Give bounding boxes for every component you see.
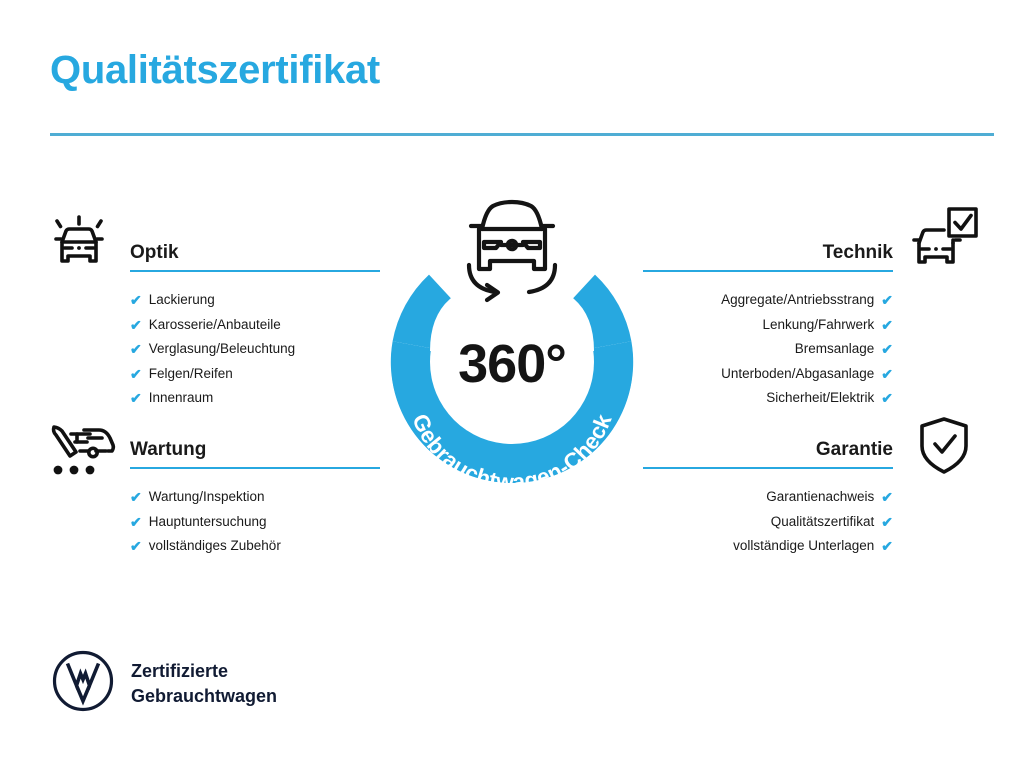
section-garantie-title: Garantie xyxy=(816,439,893,461)
section-garantie-divider xyxy=(643,467,893,469)
list-item-label: Bremsanlage xyxy=(795,337,875,362)
list-item-label: Sicherheit/Elektrik xyxy=(766,386,874,411)
check-icon: ✔ xyxy=(881,515,893,529)
section-technik-title: Technik xyxy=(823,242,893,264)
list-item: Unterboden/Abgasanlage ✔ xyxy=(643,362,893,387)
list-item: Bremsanlage ✔ xyxy=(643,337,893,362)
section-optik-divider xyxy=(130,270,380,272)
section-garantie-list: Garantienachweis ✔ Qualitätszertifikat ✔… xyxy=(643,485,893,559)
list-item: Lenkung/Fahrwerk ✔ xyxy=(643,313,893,338)
list-item-label: Innenraum xyxy=(149,386,214,411)
check-icon: ✔ xyxy=(130,318,142,332)
list-item: Sicherheit/Elektrik ✔ xyxy=(643,386,893,411)
header-divider xyxy=(50,133,994,136)
list-item-label: Unterboden/Abgasanlage xyxy=(721,362,874,387)
list-item: ✔ Felgen/Reifen xyxy=(130,362,380,387)
section-wartung: Wartung ✔ Wartung/Inspektion ✔ Hauptunte… xyxy=(130,429,380,559)
certificate-page: Qualitätszertifikat Optik xyxy=(0,0,1024,768)
check-icon: ✔ xyxy=(881,342,893,356)
list-item-label: Verglasung/Beleuchtung xyxy=(149,337,295,362)
list-item: Garantienachweis ✔ xyxy=(643,485,893,510)
list-item-label: vollständiges Zubehör xyxy=(149,534,281,559)
section-optik-header: Optik xyxy=(130,232,380,272)
check-icon: ✔ xyxy=(130,342,142,356)
check-icon: ✔ xyxy=(881,293,893,307)
list-item-label: Lackierung xyxy=(149,288,215,313)
list-item-label: Hauptuntersuchung xyxy=(149,510,267,535)
list-item: Qualitätszertifikat ✔ xyxy=(643,510,893,535)
list-item-label: Lenkung/Fahrwerk xyxy=(762,313,874,338)
section-wartung-header: Wartung xyxy=(130,429,380,469)
section-garantie-header: Garantie xyxy=(643,429,893,469)
car-shine-icon xyxy=(46,205,112,276)
footer-lockup: Zertifizierte Gebrauchtwagen xyxy=(52,650,277,717)
section-technik-divider xyxy=(643,270,893,272)
vw-logo xyxy=(52,650,114,717)
badge-value: 360° xyxy=(381,333,643,395)
section-technik: Technik Aggregate/Antriebsstrang ✔ Lenku… xyxy=(643,232,893,411)
footer-line-1: Zertifizierte xyxy=(131,659,277,684)
section-optik-title: Optik xyxy=(130,242,179,264)
list-item-label: Felgen/Reifen xyxy=(149,362,233,387)
list-item: ✔ Wartung/Inspektion xyxy=(130,485,380,510)
car-rotate-icon xyxy=(453,193,571,310)
section-wartung-divider xyxy=(130,467,380,469)
list-item: ✔ Innenraum xyxy=(130,386,380,411)
check-icon: ✔ xyxy=(130,515,142,529)
check-icon: ✔ xyxy=(130,391,142,405)
list-item-label: Aggregate/Antriebsstrang xyxy=(721,288,874,313)
check-icon: ✔ xyxy=(881,539,893,553)
list-item: ✔ Verglasung/Beleuchtung xyxy=(130,337,380,362)
check-icon: ✔ xyxy=(130,539,142,553)
car-service-tool-icon xyxy=(44,418,118,489)
section-technik-list: Aggregate/Antriebsstrang ✔ Lenkung/Fahrw… xyxy=(643,288,893,411)
check-icon: ✔ xyxy=(130,293,142,307)
list-item: ✔ Hauptuntersuchung xyxy=(130,510,380,535)
list-item: ✔ Karosserie/Anbauteile xyxy=(130,313,380,338)
section-garantie: Garantie Garantienachweis ✔ Qualitätszer… xyxy=(643,429,893,559)
list-item-label: Karosserie/Anbauteile xyxy=(149,313,281,338)
footer-text: Zertifizierte Gebrauchtwagen xyxy=(131,659,277,709)
list-item-label: Qualitätszertifikat xyxy=(771,510,875,535)
car-checkbox-icon xyxy=(911,204,981,277)
check-icon: ✔ xyxy=(881,318,893,332)
section-wartung-list: ✔ Wartung/Inspektion ✔ Hauptuntersuchung… xyxy=(130,485,380,559)
check-icon: ✔ xyxy=(881,391,893,405)
list-item-label: Garantienachweis xyxy=(766,485,874,510)
list-item-label: Wartung/Inspektion xyxy=(149,485,265,510)
check-icon: ✔ xyxy=(130,367,142,381)
footer-line-2: Gebrauchtwagen xyxy=(131,684,277,709)
check-icon: ✔ xyxy=(130,490,142,504)
list-item: ✔ vollständiges Zubehör xyxy=(130,534,380,559)
list-item: ✔ Lackierung xyxy=(130,288,380,313)
list-item: Aggregate/Antriebsstrang ✔ xyxy=(643,288,893,313)
list-item-label: vollständige Unterlagen xyxy=(733,534,874,559)
badge-360-check: Gebrauchtwagen-Check xyxy=(381,193,643,483)
section-wartung-title: Wartung xyxy=(130,439,206,461)
check-icon: ✔ xyxy=(881,490,893,504)
list-item: vollständige Unterlagen ✔ xyxy=(643,534,893,559)
section-technik-header: Technik xyxy=(643,232,893,272)
section-optik-list: ✔ Lackierung ✔ Karosserie/Anbauteile ✔ V… xyxy=(130,288,380,411)
shield-check-icon xyxy=(916,415,972,482)
svg-text:Gebrauchtwagen-Check: Gebrauchtwagen-Check xyxy=(407,410,617,483)
section-optik: Optik ✔ Lackierung ✔ Karosserie/Anbautei… xyxy=(130,232,380,411)
check-icon: ✔ xyxy=(881,367,893,381)
page-title: Qualitätszertifikat xyxy=(50,48,380,92)
